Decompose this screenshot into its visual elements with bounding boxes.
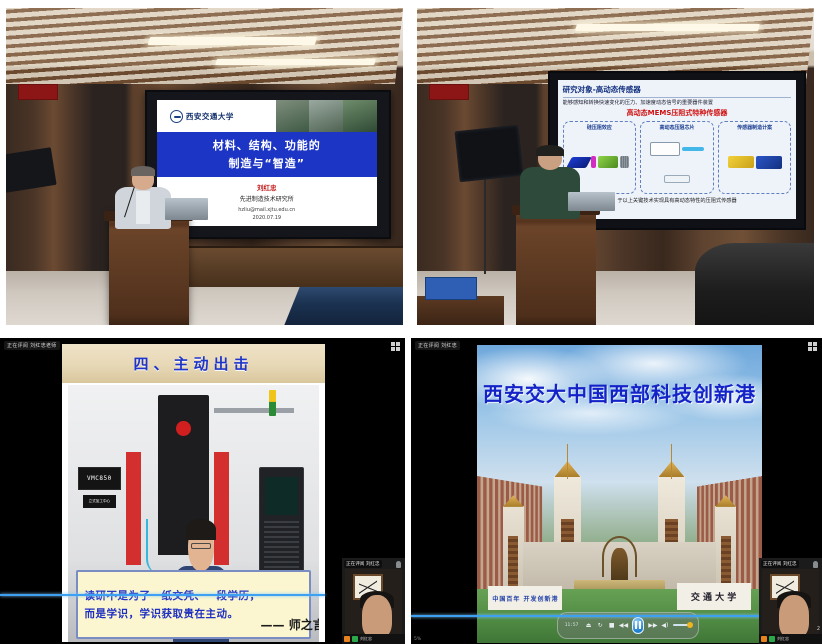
stage-bench <box>189 246 403 287</box>
shared-slide-campus: 西安交大中国西部科技创新港 <box>477 345 762 643</box>
equipment-box <box>425 277 477 299</box>
slide-title-line-2: 制造与“智造” <box>229 155 305 171</box>
side-table <box>417 296 504 325</box>
refresh-icon[interactable]: ↻ <box>597 622 604 629</box>
bottom-left-badge: 5% <box>414 637 421 642</box>
person-hair <box>186 519 217 540</box>
machine-brand-icon <box>176 421 191 436</box>
camera-on-icon <box>352 636 358 642</box>
lecture-room-background: 西安交通大学 材料、结构、功能的 制造与“智造” 刘红忠 先进制造技术研究所 h… <box>6 8 403 325</box>
slide-title-bar: 四、主动出击 <box>62 344 325 383</box>
tower-stem <box>671 444 672 479</box>
speaker-hair <box>131 166 155 176</box>
tower-inlay <box>721 536 731 586</box>
quote-attribution: —— 师之言 <box>261 616 319 634</box>
grid-view-icon[interactable] <box>808 342 817 351</box>
gate-tower-far-right <box>715 506 736 595</box>
central-statue <box>611 548 628 584</box>
camera-on-icon <box>769 636 775 642</box>
corner-badge: 2 <box>817 626 820 632</box>
campus-photo-strip <box>276 100 377 133</box>
lecture-room-background: 研究对象-高动态传感器 能够感知和转换快速变化的压力、加速度动态信号的重要器件装… <box>417 8 814 325</box>
skip-icon[interactable]: ⏏ <box>585 622 592 629</box>
participant-bar-label: 刘红忠 <box>360 636 372 642</box>
participant-status-bar: 刘红忠 <box>759 634 822 644</box>
gate-tower-far-left <box>503 506 524 595</box>
ceiling-light-strip <box>575 24 759 31</box>
light-stand <box>484 173 486 274</box>
tower-inlay <box>508 536 518 586</box>
mic-icon <box>396 561 401 568</box>
volume-slider[interactable] <box>673 624 691 626</box>
volume-icon[interactable]: ◀) <box>661 622 668 629</box>
cnc-buttons <box>264 521 299 572</box>
exit-sign <box>429 84 469 100</box>
slide-photo: VMC850 立式加工中心 读研不是为了一纸文凭、一段学历， 而是学识，学识获取 <box>68 385 319 642</box>
signal-lamp <box>269 390 277 416</box>
quote-line-2: 而是学识，学识获取贵在主动。 <box>85 606 261 621</box>
machine-model-text: VMC850 <box>87 475 112 482</box>
slide-columns: 硅压阻效应 高动态压阻芯片 <box>563 121 792 194</box>
annotation-line <box>411 615 762 617</box>
shared-screen-area[interactable]: 西安交大中国西部科技创新港 <box>477 345 762 643</box>
laptop <box>568 192 616 211</box>
column-title: 硅压阻效应 <box>566 124 634 131</box>
slide-column: 传感器制造计案 <box>718 121 792 194</box>
slide-highlight: 高动态MEMS压阻式特种传感器 <box>563 108 792 118</box>
slide-header: 西安交通大学 <box>157 100 377 133</box>
participant-name-label: 正在评阅 刘红忠 <box>761 560 799 568</box>
participant-thumbnail[interactable]: 正在评阅 刘红忠 刘红忠 <box>759 558 822 644</box>
shared-screen-area[interactable]: 四、主动出击 VMC850 <box>62 344 325 642</box>
meeting-status-label: 正在评阅 刘红忠老师 <box>4 341 60 350</box>
machine-red-panel-left <box>126 452 141 565</box>
participant-video <box>345 569 402 634</box>
slide-title-line-1: 材料、结构、功能的 <box>213 137 321 153</box>
presenter-affiliation: 先进制造技术研究所 <box>240 194 294 203</box>
slide-title: 西安交大中国西部科技创新港 <box>477 378 762 407</box>
mic-icon <box>813 561 818 568</box>
rewind-icon[interactable]: ◀◀ <box>620 622 627 629</box>
ceiling-light-strip <box>148 37 317 45</box>
slide-column: 高动态压阻芯片 <box>640 121 714 194</box>
lecture-photo-1: 西安交通大学 材料、结构、功能的 制造与“智造” 刘红忠 先进制造技术研究所 h… <box>6 8 403 325</box>
pause-icon[interactable] <box>632 617 644 634</box>
participant-face <box>779 595 809 634</box>
ceiling-light-strip <box>215 59 376 65</box>
tower-stem <box>567 444 568 479</box>
coolant-hose <box>146 519 166 576</box>
cnc-screen <box>265 477 298 515</box>
slide-title: 四、主动出击 <box>133 353 253 374</box>
studio-light <box>454 125 522 182</box>
player-time: 11:57 <box>565 623 579 628</box>
presentation-date: 2020.07.19 <box>252 215 281 221</box>
participant-video <box>762 569 819 634</box>
participant-bar-label: 刘红忠 <box>777 636 789 642</box>
camera-light <box>6 147 56 193</box>
column-figure <box>721 133 789 191</box>
laptop <box>165 198 209 220</box>
slide-title-band: 材料、结构、功能的 制造与“智造” <box>157 132 377 176</box>
sofa <box>695 243 814 325</box>
wall-sign-right: 交 通 大 学 <box>677 583 751 610</box>
slide-subtitle: 能够感知和转换快速变化的压力、加速度动态信号的重要器件装置 <box>563 100 792 107</box>
meeting-window-left[interactable]: 正在评阅 刘红忠老师 四、主动出击 <box>0 338 405 644</box>
participant-thumbnail[interactable]: 正在评阅 刘红忠 刘红忠 <box>342 558 405 644</box>
podium <box>516 205 595 325</box>
stop-icon[interactable]: ■ <box>608 622 615 629</box>
speaker-hair <box>536 145 563 156</box>
photo-collage: 西安交通大学 材料、结构、功能的 制造与“智造” 刘红忠 先进制造技术研究所 h… <box>0 0 822 644</box>
quote-callout: 读研不是为了一纸文凭、一段学历， 而是学识，学识获取贵在主动。 —— 师之言 <box>76 570 312 639</box>
column-title: 传感器制造计案 <box>721 124 789 131</box>
machine-model-tag: VMC850 <box>78 467 121 490</box>
speaker-shirt <box>136 191 149 224</box>
annotation-line <box>0 594 325 596</box>
conference-table <box>284 287 403 325</box>
presenter-name: 刘红忠 <box>257 182 277 192</box>
lecture-photo-2: 研究对象-高动态传感器 能够感知和转换快速变化的压力、加速度动态信号的重要器件装… <box>417 8 814 325</box>
university-name: 西安交通大学 <box>186 111 234 122</box>
column-figure <box>643 133 711 191</box>
shared-slide-machining: 四、主动出击 VMC850 <box>62 344 325 642</box>
exit-sign <box>18 84 58 100</box>
wall-sign-left: 中国百年 开发创新港 <box>488 586 562 610</box>
fast-forward-icon[interactable]: ▶▶ <box>649 622 656 629</box>
grid-view-icon[interactable] <box>391 342 400 351</box>
slide-title: 研究对象-高动态传感器 <box>563 84 792 95</box>
university-emblem-icon <box>170 110 183 123</box>
university-logo: 西安交通大学 <box>157 100 276 133</box>
participant-face <box>362 595 392 634</box>
mic-on-icon <box>344 636 350 642</box>
meeting-window-right[interactable]: 正在评阅 刘红忠 西安交大中国西部科技创新港 <box>411 338 822 644</box>
divider <box>563 97 792 98</box>
participant-status-bar: 刘红忠 <box>342 634 405 644</box>
mic-on-icon <box>761 636 767 642</box>
sky-clouds <box>477 345 762 500</box>
machine-model-subtag: 立式加工中心 <box>83 495 116 508</box>
overhead-pipe <box>214 408 294 413</box>
glasses-icon <box>191 543 212 549</box>
presenter-email: hzliu@mail.xjtu.edu.cn <box>238 207 295 213</box>
cnc-control-panel <box>259 467 304 580</box>
meeting-status-label: 正在评阅 刘红忠 <box>415 341 460 350</box>
column-title: 高动态压阻芯片 <box>643 124 711 131</box>
participant-name-label: 正在评阅 刘红忠 <box>344 560 382 568</box>
speaker-person <box>115 168 171 228</box>
